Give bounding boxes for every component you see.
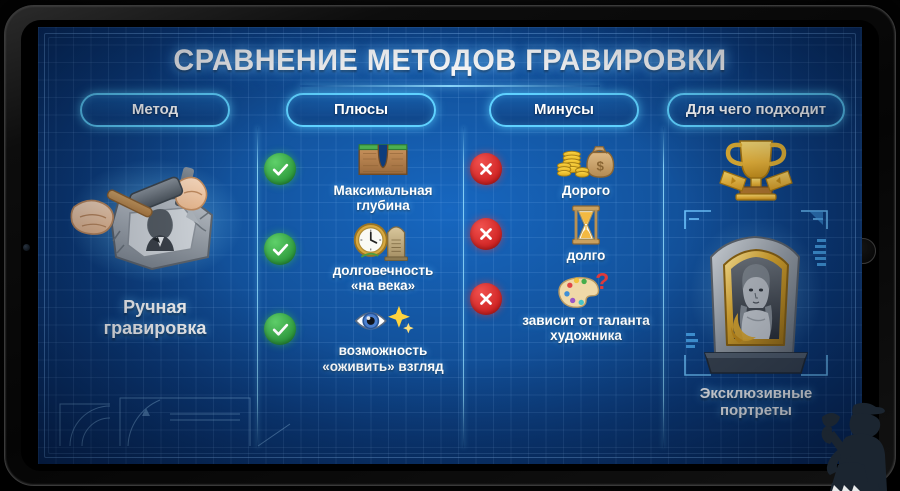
stonemason-silhouette-icon	[798, 395, 892, 491]
column-header-pros[interactable]: Плюсы	[286, 93, 436, 127]
list-item[interactable]: долговечность «на века»	[258, 219, 464, 293]
column-header-method[interactable]: Метод	[80, 93, 230, 127]
list-item[interactable]: Максимальная глубина	[258, 139, 464, 213]
title-underline	[300, 85, 600, 87]
hud-frame	[681, 205, 831, 381]
method-label: Ручная гравировка	[104, 297, 207, 338]
list-item-line2: «на века»	[333, 278, 434, 293]
list-item[interactable]: ? зависит от таланта художника	[464, 269, 664, 343]
sparkling-eye-icon	[352, 299, 414, 341]
list-item-text: Максимальная глубина	[333, 183, 432, 213]
list-item-line2: художника	[522, 328, 650, 343]
page-title: СРАВНЕНИЕ МЕТОДОВ ГРАВИРОВКИ	[54, 44, 845, 78]
column-pros: Плюсы	[258, 91, 464, 454]
column-header-fit[interactable]: Для чего подходит	[667, 93, 845, 127]
paint-palette-question-icon: ?	[555, 269, 617, 311]
list-item-line1: долговечность	[333, 263, 434, 278]
list-item-text: долговечность «на века»	[333, 263, 434, 293]
list-item-line1: зависит от таланта	[522, 313, 650, 328]
cons-list: $	[464, 139, 664, 343]
screen: СРАВНЕНИЕ МЕТОДОВ ГРАВИРОВКИ Метод	[38, 27, 862, 464]
list-item-line1: Максимальная	[333, 183, 432, 198]
fit-label-line2: портреты	[700, 402, 812, 419]
svg-text:$: $	[597, 158, 605, 173]
engraving-depth-groove-icon	[352, 139, 414, 181]
list-item-text: Дорого	[562, 183, 610, 198]
hammer-chisel-stone-portrait-icon	[60, 141, 250, 291]
column-method: Метод	[52, 91, 258, 454]
list-item[interactable]: $	[464, 139, 664, 198]
list-item[interactable]: долго	[464, 204, 664, 263]
method-label-line2: гравировка	[104, 318, 207, 339]
pros-list: Максимальная глубина	[258, 139, 464, 374]
front-camera-icon	[23, 244, 30, 251]
check-icon	[264, 153, 296, 185]
list-item[interactable]: возможность «оживить» взгляд	[258, 299, 464, 373]
trophy-icon	[710, 135, 802, 207]
list-item-line1: долго	[567, 248, 606, 263]
fit-label-line1: Эксклюзивные	[700, 385, 812, 402]
list-item-line2: «оживить» взгляд	[322, 359, 444, 374]
cross-icon	[470, 153, 502, 185]
column-cons: Минусы	[464, 91, 664, 454]
fit-label: Эксклюзивные портреты	[700, 385, 812, 420]
list-item-line1: возможность	[322, 343, 444, 358]
title-block: СРАВНЕНИЕ МЕТОДОВ ГРАВИРОВКИ	[38, 44, 862, 87]
list-item-text: долго	[567, 248, 606, 263]
money-bag-coins-icon: $	[555, 139, 617, 181]
check-icon	[264, 233, 296, 265]
tablet-device: СРАВНЕНИЕ МЕТОДОВ ГРАВИРОВКИ Метод	[0, 0, 900, 491]
column-header-cons[interactable]: Минусы	[489, 93, 639, 127]
clock-gravestone-icon	[352, 219, 414, 261]
engraved-portrait-monument-icon	[681, 205, 831, 381]
list-item-line2: глубина	[333, 198, 432, 213]
comparison-columns: Метод	[52, 91, 848, 454]
cross-icon	[470, 283, 502, 315]
svg-text:?: ?	[595, 270, 609, 294]
list-item-text: возможность «оживить» взгляд	[322, 343, 444, 373]
check-icon	[264, 313, 296, 345]
method-label-line1: Ручная	[104, 297, 207, 318]
list-item-text: зависит от таланта художника	[522, 313, 650, 343]
list-item-line1: Дорого	[562, 183, 610, 198]
hourglass-icon	[555, 204, 617, 246]
cross-icon	[470, 218, 502, 250]
